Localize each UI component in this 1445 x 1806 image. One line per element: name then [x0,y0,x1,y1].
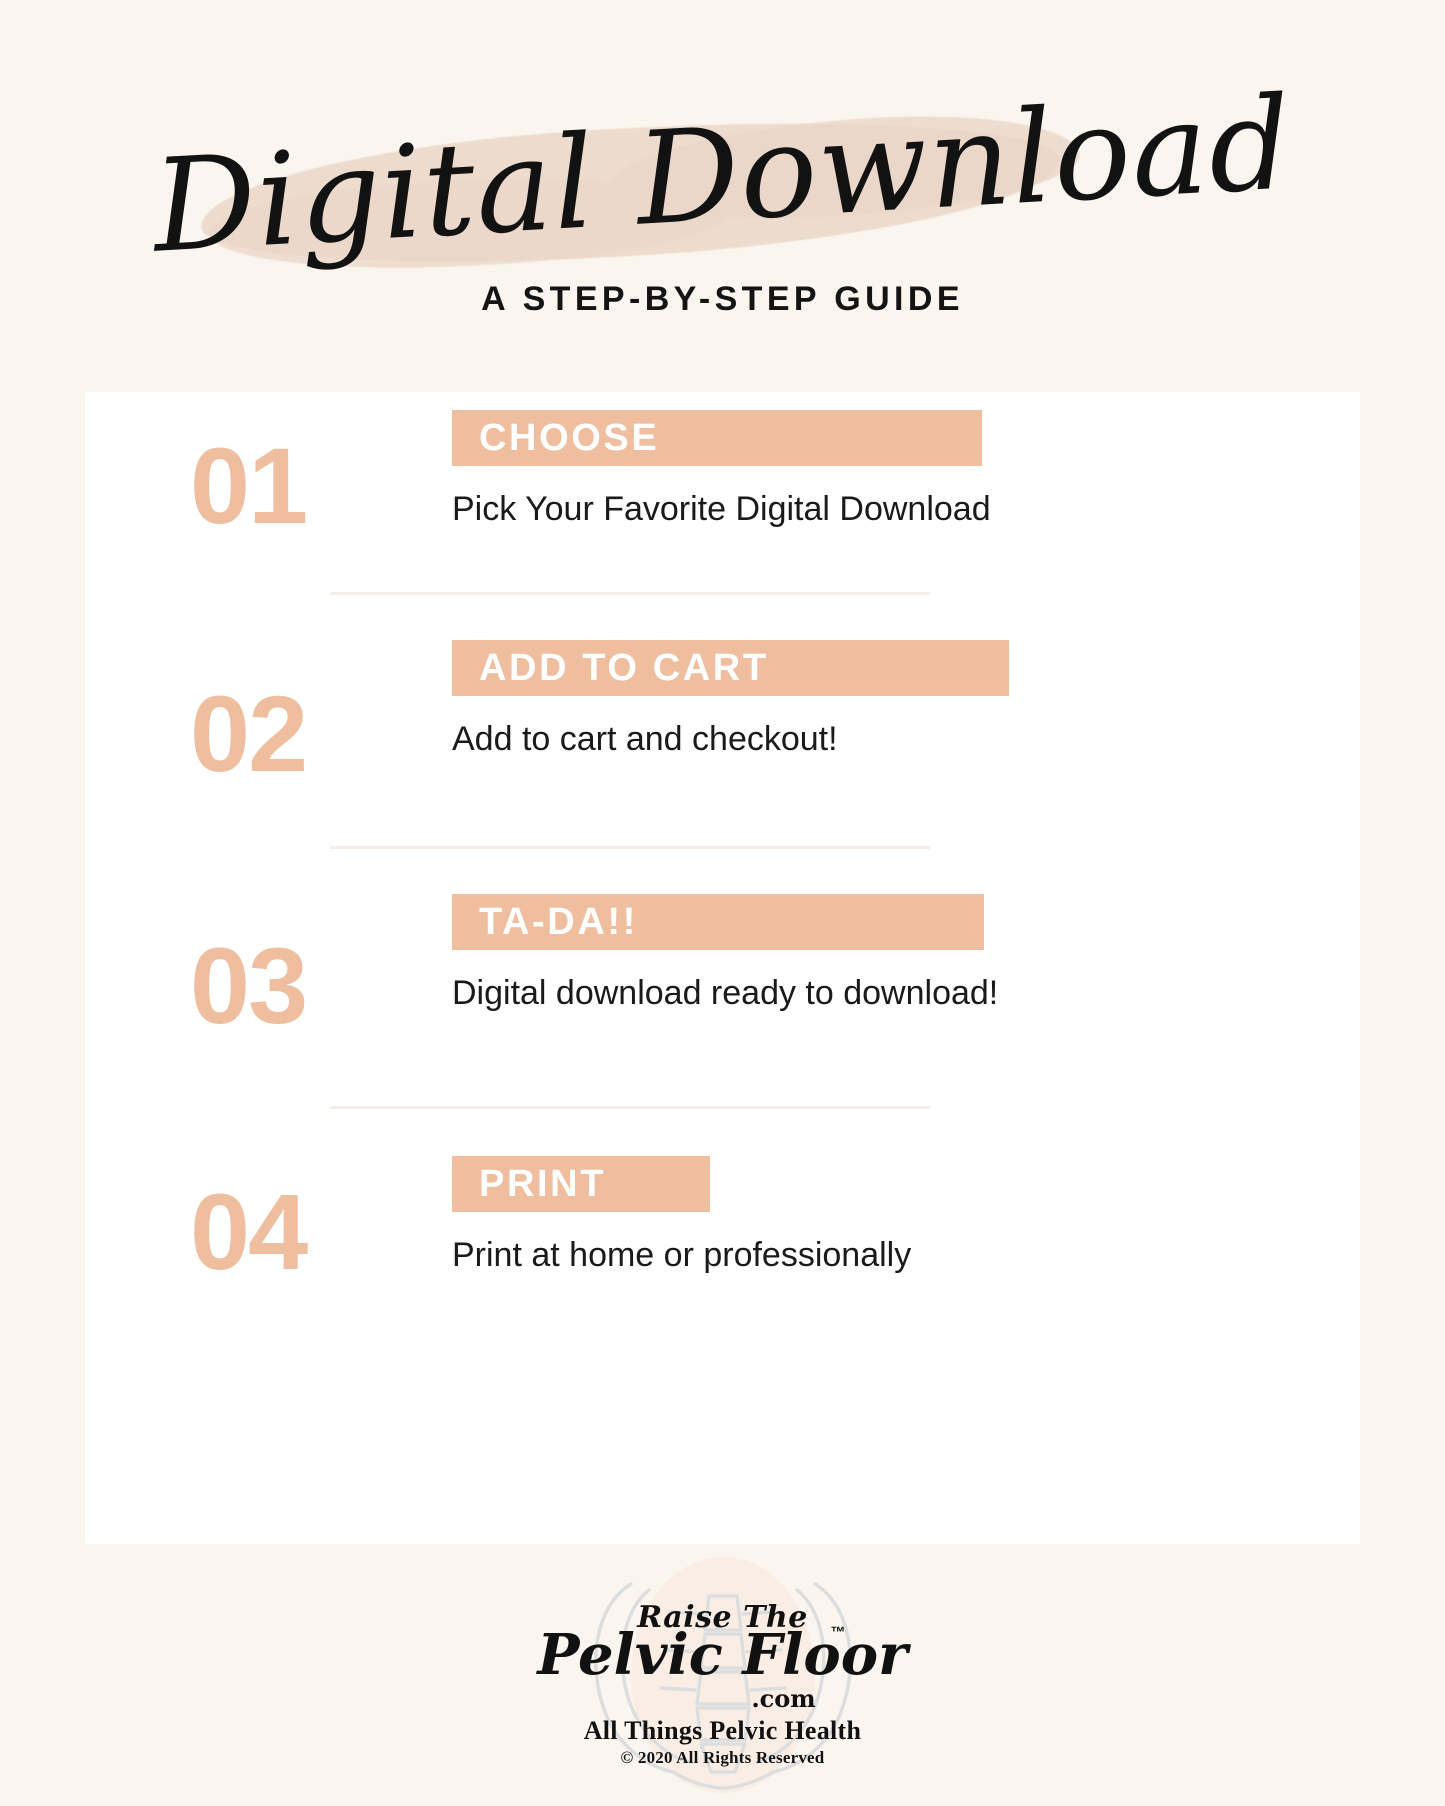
step-number-02: 02 [190,680,380,788]
step-description-01: Pick Your Favorite Digital Download [452,488,1142,532]
copyright-notice: © 2020 All Rights Reserved [513,1748,933,1768]
step-divider-02 [330,846,930,849]
step-content-04: PRINT Print at home or professionally [452,1156,1320,1278]
page-title: Digital Download [0,56,1445,296]
poster-header: Digital Download A STEP-BY-STEP GUIDE [0,0,1445,392]
step-divider-03 [330,1106,930,1109]
brand-logo: Raise The Pelvic Floor ™ .com All Things… [513,1544,933,1806]
logo-wordmark: Raise The Pelvic Floor ™ .com All Things… [513,1544,933,1806]
step-number-03: 03 [190,932,380,1040]
brand-tagline: All Things Pelvic Health [513,1716,933,1746]
step-divider-01 [330,592,930,595]
step-number-04: 04 [190,1178,380,1286]
steps-card: 01 CHOOSE Pick Your Favorite Digital Dow… [85,392,1360,1544]
poster-footer: Raise The Pelvic Floor ™ .com All Things… [0,1544,1445,1806]
step-description-04: Print at home or professionally [452,1234,1142,1278]
logo-dotcom: .com [513,1684,933,1713]
step-content-01: CHOOSE Pick Your Favorite Digital Downlo… [452,410,1320,532]
step-item: 04 PRINT Print at home or professionally [85,1156,1360,1396]
poster-page: Digital Download A STEP-BY-STEP GUIDE 01… [0,0,1445,1806]
step-label-add-to-cart: ADD TO CART [452,640,1009,696]
step-label-ta-da: TA-DA!! [452,894,984,950]
trademark-symbol: ™ [831,1624,846,1641]
page-subtitle: A STEP-BY-STEP GUIDE [0,280,1445,319]
step-content-03: TA-DA!! Digital download ready to downlo… [452,894,1320,1016]
step-item: 02 ADD TO CART Add to cart and checkout! [85,640,1360,894]
step-number-01: 01 [190,432,380,540]
step-content-02: ADD TO CART Add to cart and checkout! [452,640,1320,762]
step-description-03: Digital download ready to download! [452,972,1142,1016]
logo-line-pelvic-floor: Pelvic Floor [513,1622,933,1688]
steps-list: 01 CHOOSE Pick Your Favorite Digital Dow… [85,392,1360,1544]
step-label-choose: CHOOSE [452,410,982,466]
step-description-02: Add to cart and checkout! [452,718,1142,762]
step-item: 01 CHOOSE Pick Your Favorite Digital Dow… [85,410,1360,640]
step-item: 03 TA-DA!! Digital download ready to dow… [85,894,1360,1156]
step-label-print: PRINT [452,1156,710,1212]
